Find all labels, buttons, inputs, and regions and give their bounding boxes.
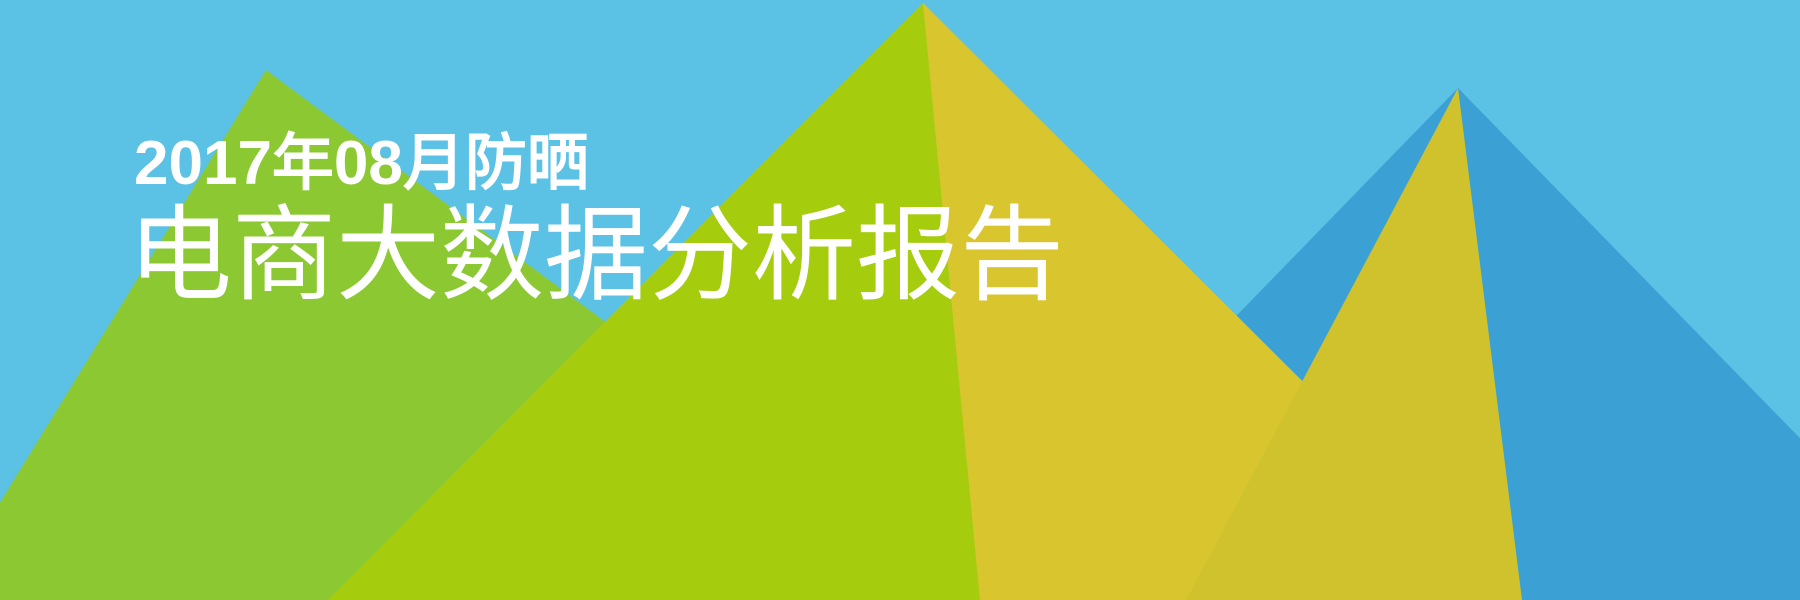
banner-root: 2017年08月防晒 电商大数据分析报告 [0, 0, 1800, 600]
banner-background-graphic [0, 0, 1800, 600]
